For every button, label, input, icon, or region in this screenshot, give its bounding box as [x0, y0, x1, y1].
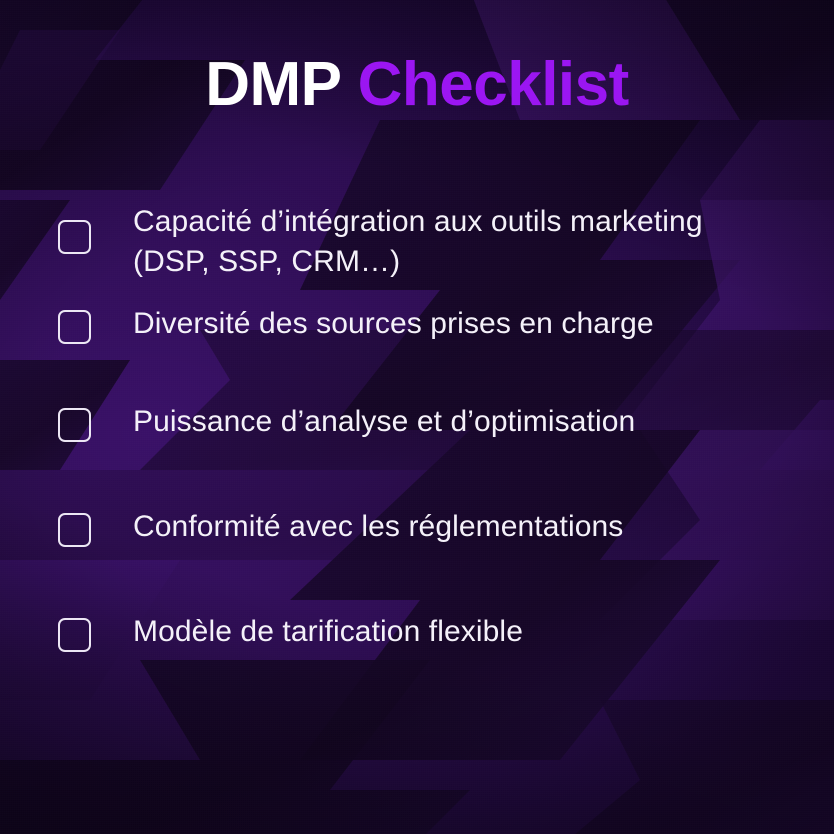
- list-item[interactable]: Puissance d’analyse et d’optimisation: [58, 402, 635, 442]
- list-item[interactable]: Capacité d’intégration aux outils market…: [58, 202, 773, 282]
- list-item[interactable]: Conformité avec les réglementations: [58, 507, 623, 547]
- title-accent: Checklist: [358, 50, 629, 119]
- list-item-label: Modèle de tarification flexible: [133, 612, 523, 652]
- title-primary: DMP: [205, 50, 341, 119]
- list-item-label: Puissance d’analyse et d’optimisation: [133, 402, 635, 442]
- poster-content: DMPChecklist Capacité d’intégration aux …: [0, 0, 834, 834]
- dmp-checklist-poster: DMPChecklist Capacité d’intégration aux …: [0, 0, 834, 834]
- list-item-label: Capacité d’intégration aux outils market…: [133, 202, 773, 282]
- checkbox-icon[interactable]: [58, 513, 91, 547]
- checkbox-icon[interactable]: [58, 220, 91, 254]
- checkbox-icon[interactable]: [58, 408, 91, 442]
- checkbox-icon[interactable]: [58, 310, 91, 344]
- list-item[interactable]: Modèle de tarification flexible: [58, 612, 523, 652]
- list-item-label: Diversité des sources prises en charge: [133, 304, 654, 344]
- list-item[interactable]: Diversité des sources prises en charge: [58, 304, 654, 344]
- page-title: DMPChecklist: [0, 52, 834, 117]
- checkbox-icon[interactable]: [58, 618, 91, 652]
- list-item-label: Conformité avec les réglementations: [133, 507, 623, 547]
